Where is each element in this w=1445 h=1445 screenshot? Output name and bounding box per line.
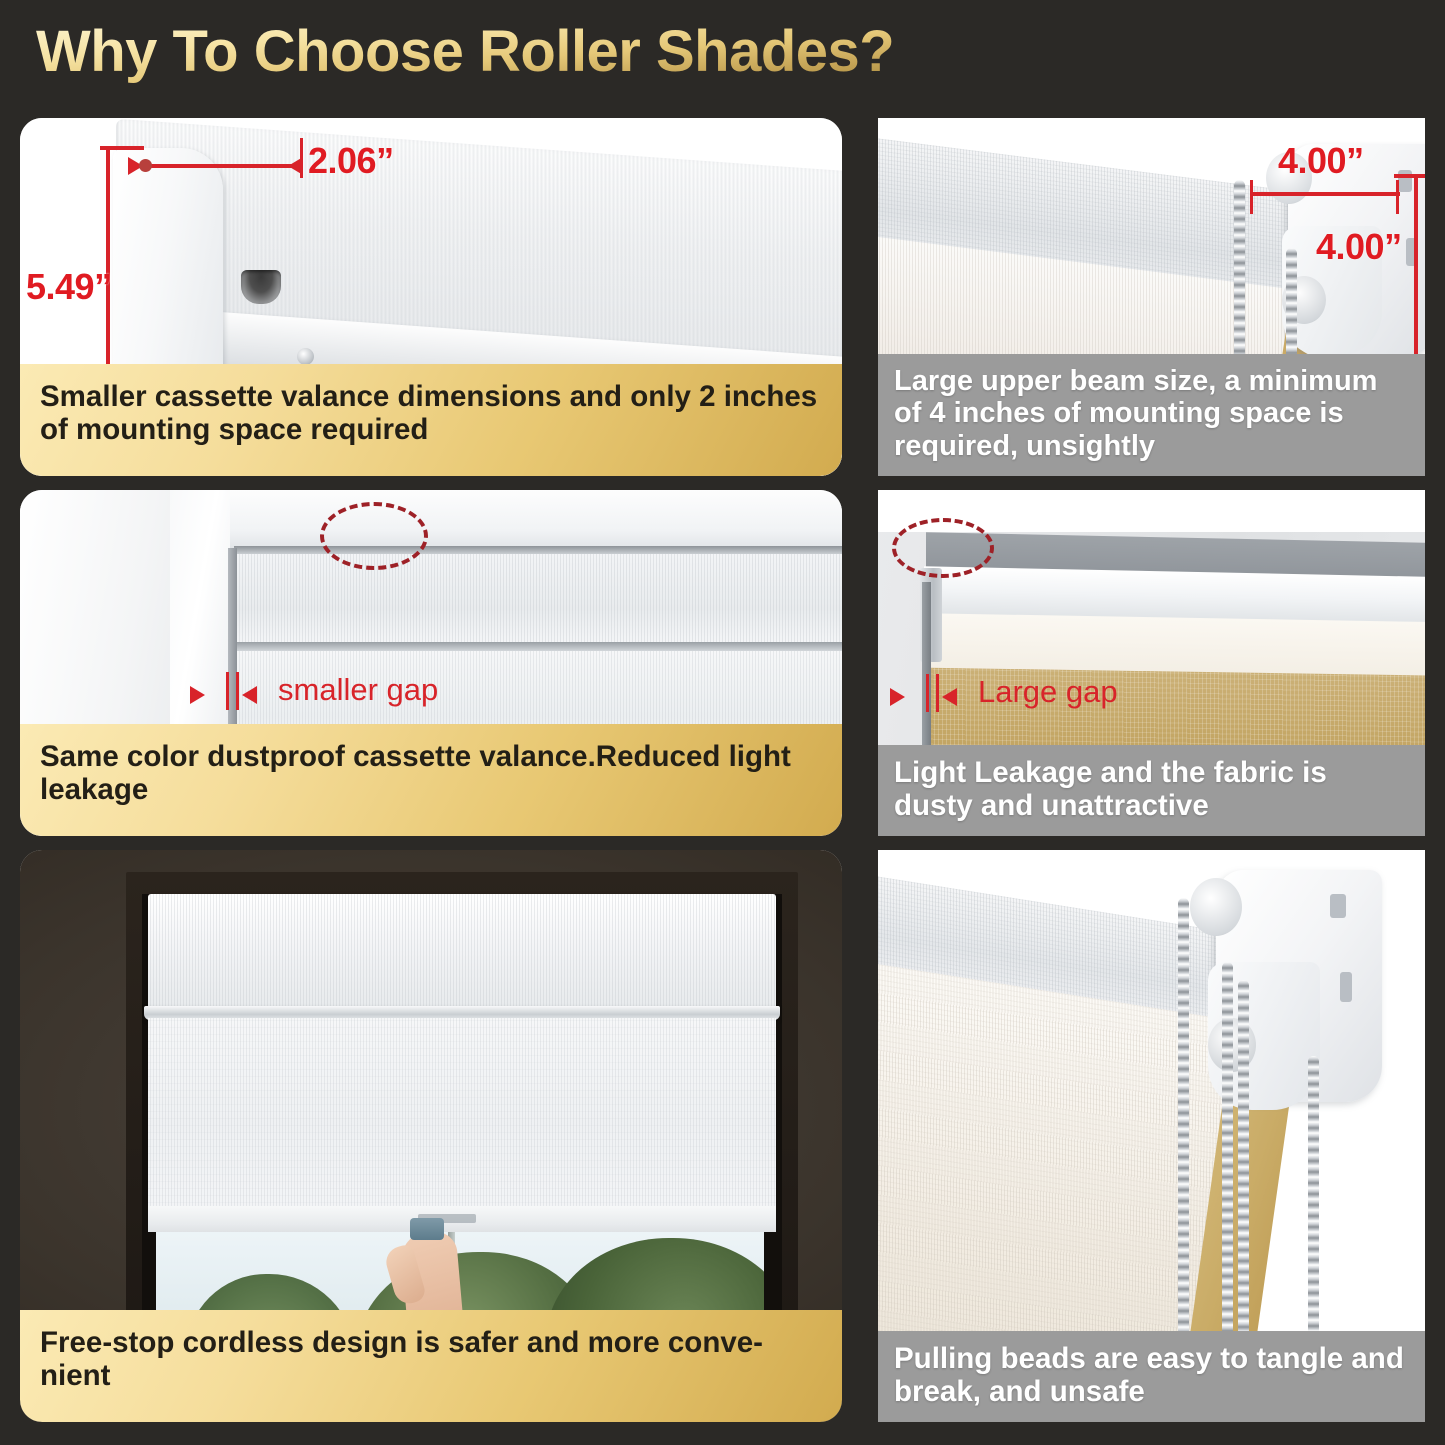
- gap-tick-right: [936, 674, 939, 712]
- caption-pulling-beads: Pulling beads are easy to tangle and bre…: [878, 1331, 1425, 1422]
- window-frame-top: [170, 490, 842, 548]
- caption-smaller-cassette: Smaller cassette valance dimensions and …: [20, 364, 842, 476]
- bracket-slot: [241, 270, 281, 304]
- roller-end: [1190, 878, 1242, 936]
- panel-frame: 4.00” 4.00” Large upper beam size, a min…: [878, 118, 1425, 476]
- caption-light-leakage: Light Leakage and the fabric is dusty an…: [878, 745, 1425, 836]
- panel-cordless-design: Free-stop cordless design is safer and m…: [20, 844, 860, 1430]
- pull-grip: [410, 1218, 444, 1240]
- cassette-valance: [148, 894, 776, 1012]
- shade-fabric: [148, 1018, 776, 1230]
- height-tick-top: [100, 146, 144, 150]
- header: Why To Choose Roller Shades?: [0, 0, 1445, 112]
- gap-label-smaller: smaller gap: [278, 672, 438, 708]
- caption-large-upper-beam: Large upper beam size, a minimum of 4 in…: [878, 354, 1425, 476]
- height-dimension-label: 5.49”: [26, 266, 112, 308]
- gap-arrow-right: [242, 686, 257, 704]
- panel-dustproof-valance: smaller gap Same color dustproof cassett…: [20, 484, 860, 844]
- panel-frame: Free-stop cordless design is safer and m…: [20, 850, 842, 1422]
- panel-frame: 2.06” 5.49” Smaller cassette valance dim…: [20, 118, 842, 476]
- width-dimension-line: [130, 164, 302, 168]
- caption-dustproof-valance: Same color dustproof cassette valance.Re…: [20, 724, 842, 836]
- beam-height-tick-top: [1394, 174, 1425, 178]
- beam-height-line: [1414, 174, 1418, 360]
- width-dimension-label: 2.06”: [308, 140, 394, 182]
- bracket-notch-upper: [1330, 894, 1346, 918]
- gap-arrow-left: [190, 686, 205, 704]
- highlight-circle-gap: [892, 518, 994, 578]
- gap-tick-left: [926, 674, 929, 712]
- panel-upper-beam-size: 4.00” 4.00” Large upper beam size, a min…: [860, 112, 1425, 484]
- panel-light-leakage: Large gap Light Leakage and the fabric i…: [860, 484, 1425, 844]
- beam-width-tick-left: [1250, 180, 1253, 214]
- panel-frame: Pulling beads are easy to tangle and bre…: [878, 850, 1425, 1422]
- beam-height-label: 4.00”: [1316, 226, 1402, 268]
- highlight-circle-gap: [320, 502, 428, 570]
- beam-width-tick-right: [1396, 180, 1399, 214]
- gap-tick-right: [236, 672, 239, 710]
- valance-mid-rail: [234, 642, 842, 651]
- panel-frame: Large gap Light Leakage and the fabric i…: [878, 490, 1425, 836]
- bracket-notch-lower: [1340, 972, 1352, 1002]
- panel-frame: smaller gap Same color dustproof cassett…: [20, 490, 842, 836]
- page-title: Why To Choose Roller Shades?: [36, 22, 894, 83]
- width-arrow-right: [288, 157, 303, 175]
- gap-arrow-left: [890, 688, 905, 706]
- comparison-grid: 2.06” 5.49” Smaller cassette valance dim…: [20, 112, 1425, 1430]
- gap-arrow-right: [942, 688, 957, 706]
- caption-cordless-design: Free-stop cordless design is safer and m…: [20, 1310, 842, 1422]
- panel-pulling-beads: Pulling beads are easy to tangle and bre…: [860, 844, 1425, 1430]
- gap-label-large: Large gap: [978, 674, 1118, 710]
- screw-upper: [297, 348, 314, 365]
- valance-band: [234, 554, 842, 646]
- measure-origin-dot: [139, 159, 152, 172]
- panel-cassette-dimensions: 2.06” 5.49” Smaller cassette valance dim…: [20, 112, 860, 484]
- beam-width-label: 4.00”: [1278, 140, 1364, 182]
- beam-width-line: [1252, 192, 1400, 196]
- gap-tick-left: [226, 672, 229, 710]
